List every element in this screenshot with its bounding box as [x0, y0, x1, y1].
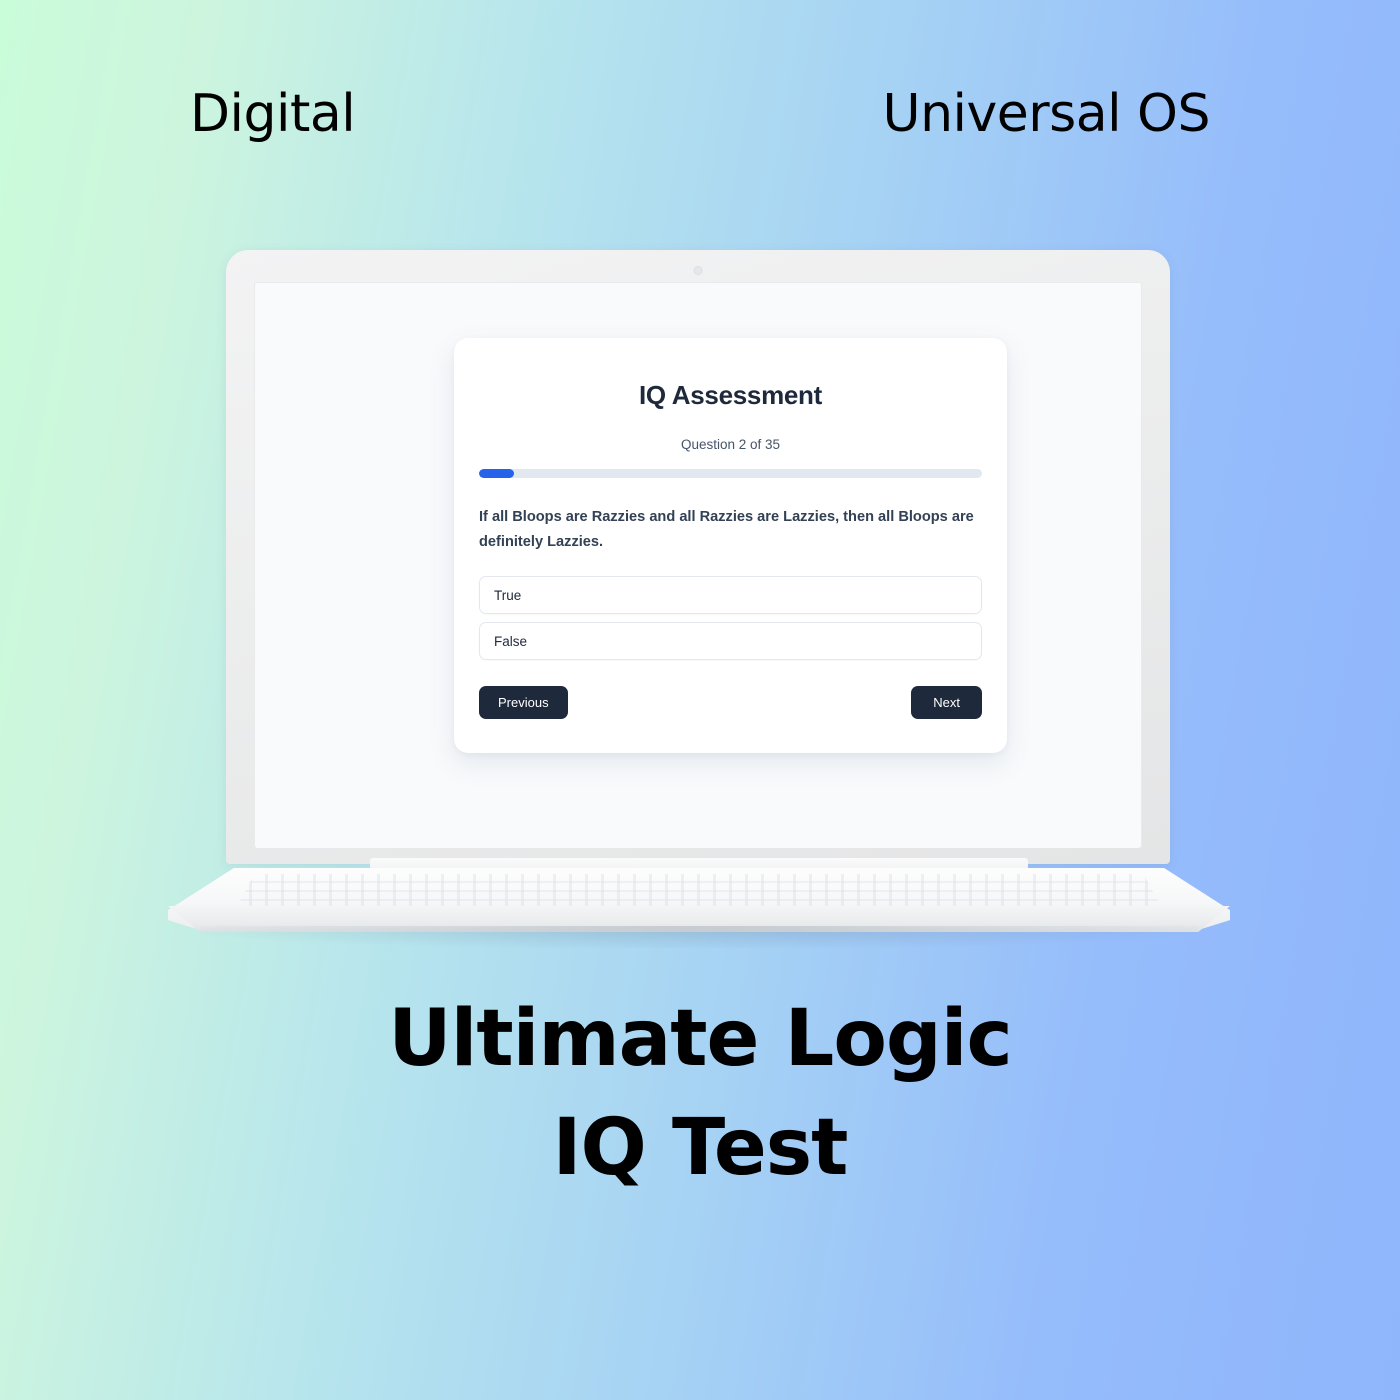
- webcam-icon: [694, 266, 703, 275]
- header-label-right: Universal OS: [883, 88, 1210, 140]
- footer-title-line-1: Ultimate Logic: [0, 985, 1400, 1094]
- header-label-left: Digital: [190, 88, 355, 140]
- question-counter: Question 2 of 35: [479, 437, 982, 452]
- progress-bar-fill: [479, 469, 514, 478]
- footer-title-line-2: IQ Test: [0, 1094, 1400, 1203]
- answer-option-true[interactable]: True: [479, 576, 982, 614]
- next-button[interactable]: Next: [911, 686, 982, 719]
- question-text: If all Bloops are Razzies and all Razzie…: [479, 505, 982, 555]
- footer-title: Ultimate Logic IQ Test: [0, 985, 1400, 1203]
- keyboard-keys: [236, 874, 1162, 908]
- laptop-screen: IQ Assessment Question 2 of 35 If all Bl…: [254, 282, 1142, 848]
- progress-bar-track: [479, 469, 982, 478]
- answer-option-label: False: [494, 634, 527, 649]
- answer-options: True False: [479, 576, 982, 660]
- answer-option-label: True: [494, 588, 521, 603]
- laptop-lid: IQ Assessment Question 2 of 35 If all Bl…: [226, 250, 1170, 864]
- laptop-drop-shadow: [200, 926, 1198, 948]
- header-row: Digital Universal OS: [0, 88, 1400, 140]
- quiz-card: IQ Assessment Question 2 of 35 If all Bl…: [454, 338, 1007, 753]
- answer-option-false[interactable]: False: [479, 622, 982, 660]
- page-title: IQ Assessment: [479, 380, 982, 411]
- navigation-row: Previous Next: [479, 686, 982, 719]
- previous-button[interactable]: Previous: [479, 686, 568, 719]
